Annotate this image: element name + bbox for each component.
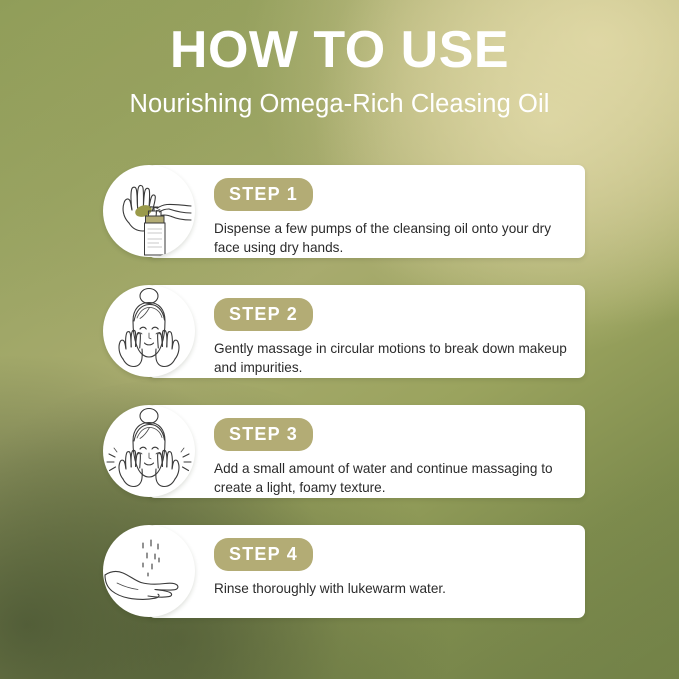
how-to-use-poster: HOW TO USE Nourishing Omega-Rich Cleasin… (0, 0, 679, 679)
step-description: Gently massage in circular motions to br… (214, 339, 571, 377)
steps-list: STEP 1 Dispense a few pumps of the clean… (0, 165, 679, 645)
step-badge: STEP 1 (214, 178, 313, 211)
step-badge: STEP 3 (214, 418, 313, 451)
step-card: STEP 1 Dispense a few pumps of the clean… (148, 165, 585, 258)
step-card: STEP 3 Add a small amount of water and c… (148, 405, 585, 498)
step-item: STEP 2 Gently massage in circular motion… (0, 285, 679, 405)
step-item: STEP 4 Rinse thoroughly with lukewarm wa… (0, 525, 679, 645)
step-description: Rinse thoroughly with lukewarm water. (214, 579, 571, 598)
step-badge: STEP 4 (214, 538, 313, 571)
step-description: Dispense a few pumps of the cleansing oi… (214, 219, 571, 257)
step-item: STEP 1 Dispense a few pumps of the clean… (0, 165, 679, 285)
hand-pump-bottle-icon (103, 165, 195, 257)
face-massage-icon (103, 285, 195, 377)
poster-header: HOW TO USE Nourishing Omega-Rich Cleasin… (0, 20, 679, 120)
step-card-body: STEP 1 Dispense a few pumps of the clean… (214, 178, 571, 257)
step-description: Add a small amount of water and continue… (214, 459, 571, 497)
step-badge: STEP 2 (214, 298, 313, 331)
hand-water-rinse-icon (103, 525, 195, 617)
step-card: STEP 4 Rinse thoroughly with lukewarm wa… (148, 525, 585, 618)
page-title: HOW TO USE (0, 20, 679, 80)
page-subtitle: Nourishing Omega-Rich Cleasing Oil (0, 88, 679, 120)
step-card-body: STEP 4 Rinse thoroughly with lukewarm wa… (214, 538, 571, 598)
step-card-body: STEP 3 Add a small amount of water and c… (214, 418, 571, 497)
step-card-body: STEP 2 Gently massage in circular motion… (214, 298, 571, 377)
face-foam-massage-icon (103, 405, 195, 497)
step-card: STEP 2 Gently massage in circular motion… (148, 285, 585, 378)
step-item: STEP 3 Add a small amount of water and c… (0, 405, 679, 525)
